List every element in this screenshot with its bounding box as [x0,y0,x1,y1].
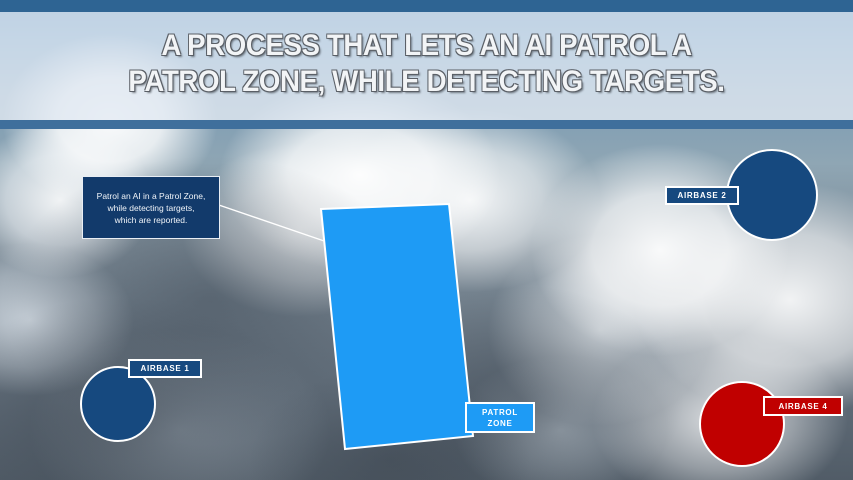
slide-canvas: A PROCESS THAT LETS AN AI PATROL A PATRO… [0,0,853,480]
callout-text: Patrol an AI in a Patrol Zone, while det… [92,190,211,226]
patrol-zone-polygon[interactable] [321,204,473,449]
callout-box[interactable]: Patrol an AI in a Patrol Zone, while det… [82,176,220,239]
airbase-1-label[interactable]: AIRBASE 1 [128,359,202,378]
vector-overlay [0,0,853,480]
airbase-4-marker[interactable] [700,382,784,466]
airbase-1-marker[interactable] [81,367,155,441]
patrol-zone-label[interactable]: PATROL ZONE [465,402,535,433]
airbase-4-label[interactable]: AIRBASE 4 [763,396,843,416]
callout-connector-line [213,203,330,243]
airbase-2-label[interactable]: AIRBASE 2 [665,186,739,205]
airbase-2-marker[interactable] [727,150,817,240]
